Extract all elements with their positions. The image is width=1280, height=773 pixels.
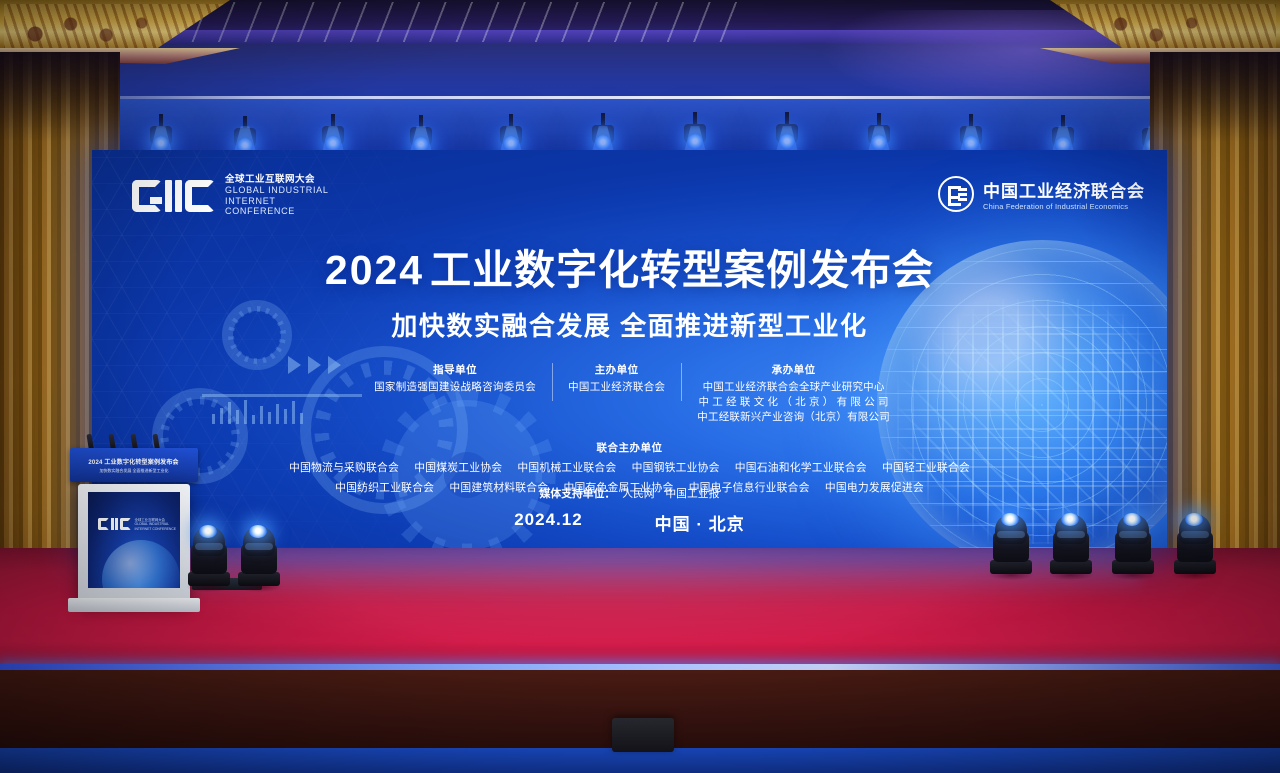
- media-label: 媒体支持单位：: [540, 488, 616, 500]
- joint-org: 中国物流与采购联合会: [289, 462, 399, 474]
- podium-base: [68, 598, 200, 612]
- podium-giic-logo: 全球工业互联网大会 GLOBAL INDUSTRIAL INTERNET CON…: [98, 518, 180, 531]
- media-support-line: 媒体支持单位：人民网 中国工业报: [92, 485, 1167, 501]
- event-date: 2024.12: [514, 510, 582, 535]
- giic-monogram-icon: [132, 180, 215, 212]
- podium-front-panel: 全球工业互联网大会 GLOBAL INDUSTRIAL INTERNET CON…: [88, 492, 180, 588]
- org-line: 中国工业经济联合会: [568, 380, 665, 395]
- curtain-shadow: [1150, 52, 1280, 142]
- joint-org: 中国钢铁工业协会: [632, 462, 720, 474]
- org-line: 中 工 经 联 文 化 （ 北 京 ） 有 限 公 司: [697, 395, 890, 410]
- podium-sign-title: 2024 工业数字化转型案例发布会: [89, 457, 179, 466]
- moving-head-light: [186, 524, 232, 586]
- organizer-column-host: 主办单位 中国工业经济联合会: [552, 362, 681, 395]
- joint-org: 中国轻工业联合会: [882, 462, 970, 474]
- joint-org: 中国石油和化学工业联合会: [735, 462, 867, 474]
- event-sub-title: 加快数实融合发展 全面推进新型工业化: [92, 306, 1167, 343]
- screen-logo-row: 全球工业互联网大会 GLOBAL INDUSTRIAL INTERNET CON…: [92, 164, 1167, 222]
- moving-head-light: [1110, 512, 1156, 574]
- joint-org: 中国机械工业联合会: [517, 462, 616, 474]
- joint-row-1: 中国物流与采购联合会 中国煤炭工业协会 中国机械工业联合会 中国钢铁工业协会 中…: [92, 459, 1167, 475]
- cfie-logo-text: 中国工业经济联合会 China Federation of Industrial…: [983, 177, 1145, 211]
- led-screen-content: 全球工业互联网大会 GLOBAL INDUSTRIAL INTERNET CON…: [92, 150, 1167, 548]
- podium-giic-mark-icon: [98, 518, 131, 530]
- podium-globe-graphic: [102, 540, 180, 588]
- event-title-text: 工业数字化转型案例发布会: [430, 247, 934, 293]
- org-heading: 指导单位: [374, 362, 536, 377]
- moving-head-light: [1048, 512, 1094, 574]
- giic-logo: 全球工业互联网大会 GLOBAL INDUSTRIAL INTERNET CON…: [132, 174, 329, 217]
- org-line: 中工经联新兴产业咨询（北京）有限公司: [697, 410, 890, 425]
- organizer-column-undertaker: 承办单位 中国工业经济联合会全球产业研究中心 中 工 经 联 文 化 （ 北 京…: [681, 362, 906, 426]
- podium-giic-en: GLOBAL INDUSTRIAL INTERNET CONFERENCE: [135, 522, 181, 531]
- stage-led-screen: 全球工业互联网大会 GLOBAL INDUSTRIAL INTERNET CON…: [92, 150, 1167, 548]
- cfie-en-name: China Federation of Industrial Economics: [983, 202, 1145, 211]
- floor-speaker: [612, 718, 674, 752]
- cfie-emblem-icon: [938, 176, 974, 212]
- event-main-title: 2024工业数字化转型案例发布会: [92, 236, 1167, 296]
- curtain-shadow: [0, 52, 120, 142]
- giic-en-line2: INTERNET: [225, 196, 329, 207]
- cfie-cn-name: 中国工业经济联合会: [983, 177, 1145, 202]
- giic-en-line1: GLOBAL INDUSTRIAL: [225, 185, 329, 196]
- org-line: 国家制造强国建设战略咨询委员会: [374, 380, 536, 395]
- podium-sign-subtitle: 加快数实融合发展 全面推进新型工业化: [99, 468, 168, 474]
- media-outlets: 人民网 中国工业报: [622, 488, 719, 500]
- decor-ticks: [212, 398, 303, 424]
- event-location: 中国 · 北京: [655, 510, 745, 535]
- organizer-columns: 指导单位 国家制造强国建设战略咨询委员会 主办单位 中国工业经济联合会 承办单位…: [322, 362, 942, 426]
- podium-giic-text: 全球工业互联网大会 GLOBAL INDUSTRIAL INTERNET CON…: [135, 518, 181, 531]
- ceiling-sparkle-texture: [146, 2, 755, 42]
- moving-head-light: [1172, 512, 1218, 574]
- giic-logo-text: 全球工业互联网大会 GLOBAL INDUSTRIAL INTERNET CON…: [225, 174, 329, 217]
- podium-body: 全球工业互联网大会 GLOBAL INDUSTRIAL INTERNET CON…: [78, 484, 190, 602]
- speaker-podium: 2024 工业数字化转型案例发布会 加快数实融合发展 全面推进新型工业化 全球工…: [64, 438, 204, 616]
- moving-head-light: [988, 512, 1034, 574]
- joint-heading: 联合主办单位: [92, 440, 1167, 455]
- joint-org: 中国煤炭工业协会: [414, 462, 502, 474]
- organizer-column-guidance: 指导单位 国家制造强国建设战略咨询委员会: [358, 362, 552, 395]
- org-heading: 主办单位: [568, 362, 665, 377]
- moving-head-light: [236, 524, 282, 586]
- event-year: 2024: [325, 247, 424, 293]
- org-line: 中国工业经济联合会全球产业研究中心: [697, 380, 890, 395]
- conference-stage-photo: 全球工业互联网大会 GLOBAL INDUSTRIAL INTERNET CON…: [0, 0, 1280, 773]
- giic-en-line3: CONFERENCE: [225, 206, 329, 217]
- podium-sign: 2024 工业数字化转型案例发布会 加快数实融合发展 全面推进新型工业化: [70, 448, 198, 482]
- giic-cn-name: 全球工业互联网大会: [225, 174, 329, 185]
- cfie-logo: 中国工业经济联合会 China Federation of Industrial…: [938, 176, 1145, 212]
- org-heading: 承办单位: [697, 362, 890, 377]
